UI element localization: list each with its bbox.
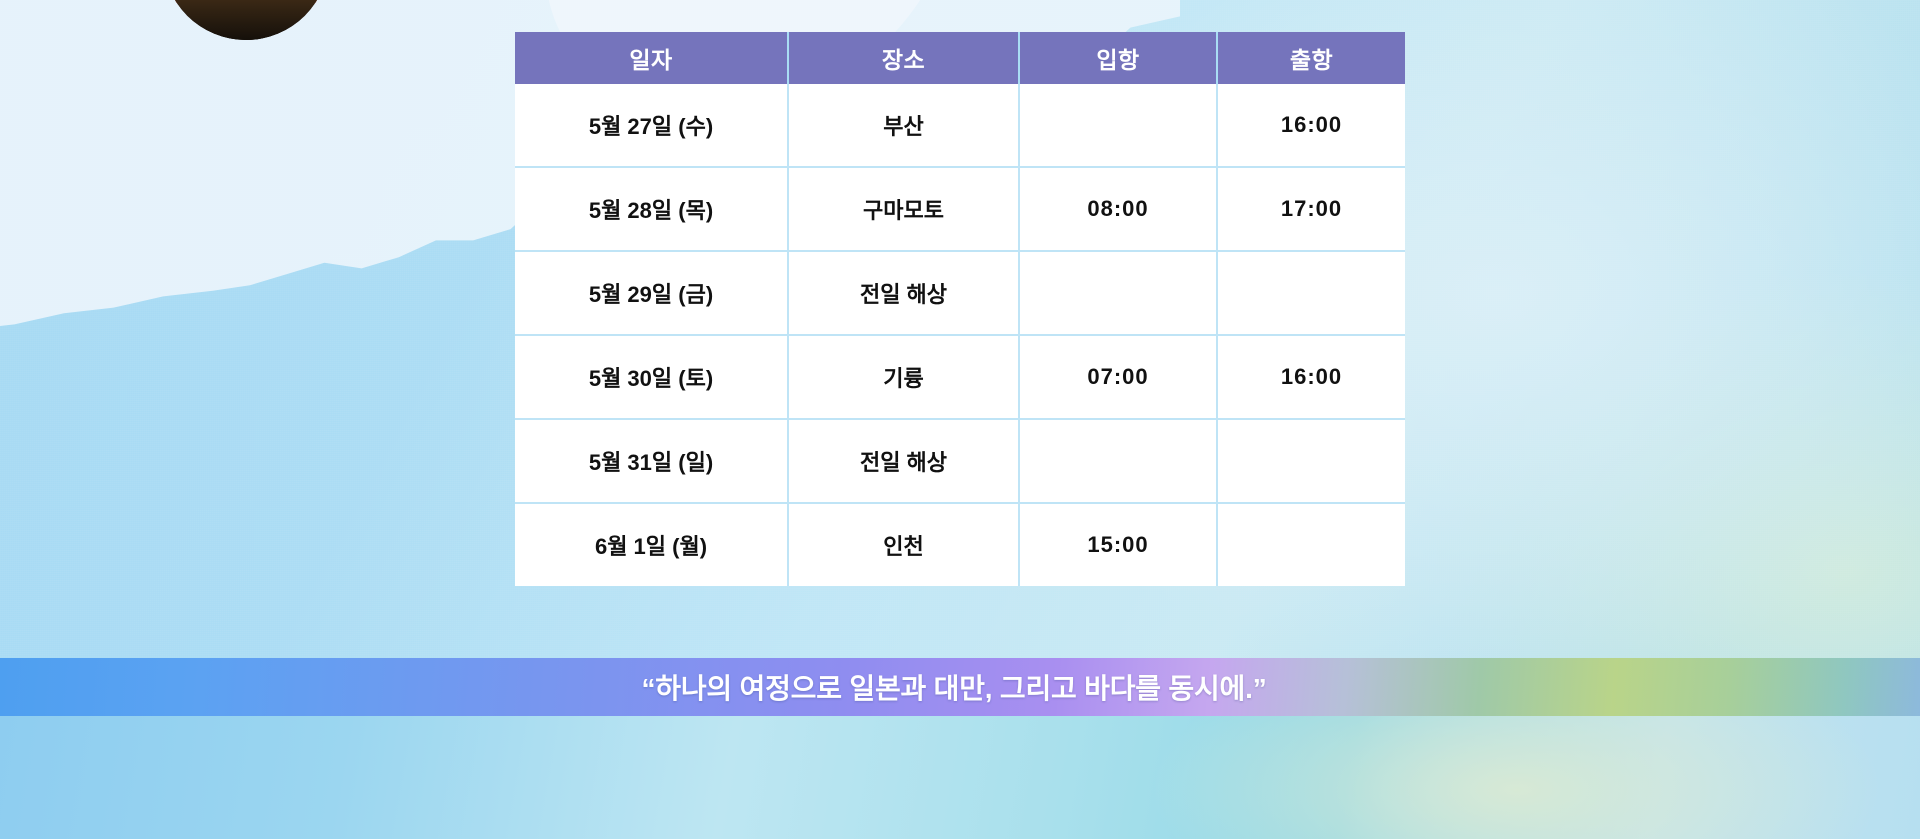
cell-place: 전일 해상 (788, 251, 1019, 335)
table-row: 5월 29일 (금) 전일 해상 (515, 251, 1405, 335)
cell-place: 구마모토 (788, 167, 1019, 251)
cell-depart (1217, 503, 1405, 586)
cell-place: 전일 해상 (788, 419, 1019, 503)
cell-arrive (1019, 84, 1217, 167)
cell-place: 부산 (788, 84, 1019, 167)
cell-date: 5월 31일 (일) (515, 419, 788, 503)
cell-arrive (1019, 251, 1217, 335)
cell-depart: 16:00 (1217, 335, 1405, 419)
circular-destination-photo (163, 0, 329, 40)
table-header-row: 일자 장소 입항 출항 (515, 32, 1405, 84)
cell-depart (1217, 419, 1405, 503)
column-header-date: 일자 (515, 32, 788, 84)
cell-arrive: 15:00 (1019, 503, 1217, 586)
bottom-gradient-area (0, 716, 1920, 839)
table-row: 5월 27일 (수) 부산 16:00 (515, 84, 1405, 167)
cell-arrive: 07:00 (1019, 335, 1217, 419)
cell-arrive: 08:00 (1019, 167, 1217, 251)
table-row: 5월 28일 (목) 구마모토 08:00 17:00 (515, 167, 1405, 251)
cell-date: 5월 28일 (목) (515, 167, 788, 251)
tagline-banner: “하나의 여정으로 일본과 대만, 그리고 바다를 동시에.” (0, 658, 1920, 716)
table-header: 일자 장소 입항 출항 (515, 32, 1405, 84)
column-header-arrive: 입항 (1019, 32, 1217, 84)
column-header-place: 장소 (788, 32, 1019, 84)
cell-date: 6월 1일 (월) (515, 503, 788, 586)
itinerary-table: 일자 장소 입항 출항 5월 27일 (수) 부산 16:00 5월 28일 (… (515, 32, 1405, 586)
tagline-text: “하나의 여정으로 일본과 대만, 그리고 바다를 동시에.” (642, 667, 1267, 707)
cell-place: 기륭 (788, 335, 1019, 419)
table-body: 5월 27일 (수) 부산 16:00 5월 28일 (목) 구마모토 08:0… (515, 84, 1405, 586)
table-row: 6월 1일 (월) 인천 15:00 (515, 503, 1405, 586)
column-header-depart: 출항 (1217, 32, 1405, 84)
cell-date: 5월 30일 (토) (515, 335, 788, 419)
table-row: 5월 31일 (일) 전일 해상 (515, 419, 1405, 503)
photo-ground-layer (163, 0, 329, 40)
cell-arrive (1019, 419, 1217, 503)
poster-canvas: 일자 장소 입항 출항 5월 27일 (수) 부산 16:00 5월 28일 (… (0, 0, 1920, 839)
itinerary-table-container: 일자 장소 입항 출항 5월 27일 (수) 부산 16:00 5월 28일 (… (515, 32, 1405, 586)
cell-depart: 17:00 (1217, 167, 1405, 251)
cell-depart (1217, 251, 1405, 335)
cell-date: 5월 27일 (수) (515, 84, 788, 167)
cell-depart: 16:00 (1217, 84, 1405, 167)
table-row: 5월 30일 (토) 기륭 07:00 16:00 (515, 335, 1405, 419)
cell-place: 인천 (788, 503, 1019, 586)
cell-date: 5월 29일 (금) (515, 251, 788, 335)
